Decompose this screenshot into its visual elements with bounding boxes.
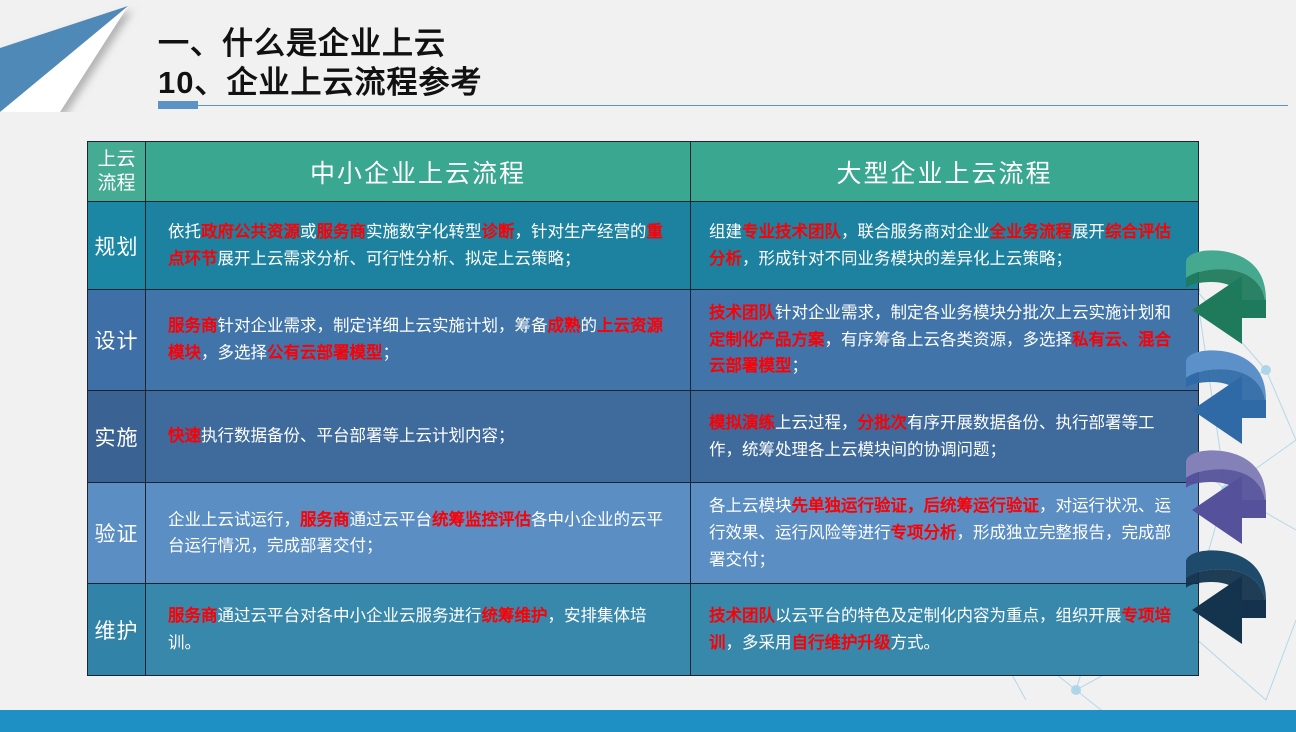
plain-text: ； (383, 344, 400, 362)
table-row: 实施快速执行数据备份、平台部署等上云计划内容；模拟演练上云过程，分批次有序开展数… (88, 391, 1199, 483)
header-cell-large: 大型企业上云流程 (691, 142, 1199, 202)
sme-flow-cell-2: 快速执行数据备份、平台部署等上云计划内容； (146, 391, 691, 483)
plain-text: 组建 (709, 223, 742, 241)
plain-text: ，针对生产经营的 (515, 223, 647, 241)
highlight-text: 公有云部署模型 (267, 344, 383, 362)
stage-label-0: 规划 (88, 202, 146, 290)
sme-flow-cell-0: 依托政府公共资源或服务商实施数字化转型诊断，针对生产经营的重点环节展开上云需求分… (146, 202, 691, 290)
highlight-text: 定制化产品方案 (709, 331, 825, 349)
slide-canvas: 一、什么是企业上云 10、企业上云流程参考 上云 流程 中小企业上云流程 大型企… (0, 0, 1296, 732)
plain-text: 依托 (168, 223, 201, 241)
stage-label-2: 实施 (88, 391, 146, 483)
large-flow-cell-1: 技术团队针对企业需求，制定各业务模块分批次上云实施计划和定制化产品方案，有序筹备… (691, 290, 1199, 391)
large-flow-cell-0: 组建专业技术团队，联合服务商对企业全业务流程展开综合评估分析，形成针对不同业务模… (691, 202, 1199, 290)
table-row: 验证企业上云试运行，服务商通过云平台统筹监控评估各中小企业的云平台运行情况，完成… (88, 483, 1199, 584)
plain-text: 企业上云试运行， (168, 511, 300, 529)
highlight-text: 专业技术团队 (742, 223, 841, 241)
plain-text: ； (792, 357, 809, 375)
highlight-text: 模拟演练 (709, 414, 775, 432)
plain-text: ，多采用 (726, 634, 792, 652)
highlight-text: 政府公共资源 (201, 223, 300, 241)
plain-text: 上云过程， (775, 414, 858, 432)
plain-text: 通过云平台对各中小企业云服务进行 (218, 607, 482, 625)
title-line-2: 10、企业上云流程参考 (158, 63, 858, 102)
large-flow-cell-4: 技术团队以云平台的特色及定制化内容为重点，组织开展专项培训，多采用自行维护升级方… (691, 584, 1199, 676)
sme-flow-cell-3: 企业上云试运行，服务商通过云平台统筹监控评估各中小企业的云平台运行情况，完成部署… (146, 483, 691, 584)
plain-text: 实施数字化转型 (366, 223, 482, 241)
stage-label-1: 设计 (88, 290, 146, 391)
header-stage-line2: 流程 (88, 172, 145, 196)
table-row: 设计服务商针对企业需求，制定详细上云实施计划，筹备成熟的上云资源模块，多选择公有… (88, 290, 1199, 391)
highlight-text: 专项分析 (891, 524, 957, 542)
plain-text: 针对企业需求，制定详细上云实施计划，筹备 (218, 317, 548, 335)
large-flow-cell-3: 各上云模块先单独运行验证，后统筹运行验证，对运行状况、运行效果、运行风险等进行专… (691, 483, 1199, 584)
title-divider-accent (158, 101, 198, 109)
title-line-1: 一、什么是企业上云 (158, 24, 858, 63)
sme-flow-cell-4: 服务商通过云平台对各中小企业云服务进行统筹维护，安排集体培训。 (146, 584, 691, 676)
plain-text: 各上云模块 (709, 497, 792, 515)
stage-label-4: 维护 (88, 584, 146, 676)
plain-text: 方式。 (891, 634, 941, 652)
highlight-text: 服务商 (317, 223, 367, 241)
table-row: 规划依托政府公共资源或服务商实施数字化转型诊断，针对生产经营的重点环节展开上云需… (88, 202, 1199, 290)
table-header-row: 上云 流程 中小企业上云流程 大型企业上云流程 (88, 142, 1199, 202)
cloud-migration-flow-table: 上云 流程 中小企业上云流程 大型企业上云流程 规划依托政府公共资源或服务商实施… (87, 141, 1199, 676)
highlight-text: 成熟 (548, 317, 581, 335)
highlight-text: 自行维护升级 (792, 634, 891, 652)
logo-wedge-icon (0, 0, 150, 112)
plain-text: ，有序筹备上云各类资源，多选择 (825, 331, 1073, 349)
highlight-text: 服务商 (168, 317, 218, 335)
plain-text: 执行数据备份、平台部署等上云计划内容； (201, 427, 515, 445)
highlight-text: 技术团队 (709, 607, 775, 625)
highlight-text: 统筹监控评估 (432, 511, 531, 529)
footer-bar (0, 710, 1296, 732)
title-divider (158, 105, 1288, 106)
header-stage-line1: 上云 (88, 148, 145, 172)
header-cell-sme: 中小企业上云流程 (146, 142, 691, 202)
plain-text: ，联合服务商对企业 (841, 223, 990, 241)
table-row: 维护服务商通过云平台对各中小企业云服务进行统筹维护，安排集体培训。技术团队以云平… (88, 584, 1199, 676)
sme-flow-cell-1: 服务商针对企业需求，制定详细上云实施计划，筹备成熟的上云资源模块，多选择公有云部… (146, 290, 691, 391)
header-cell-stage: 上云 流程 (88, 142, 146, 202)
highlight-text: 服务商 (168, 607, 218, 625)
plain-text: 的 (581, 317, 598, 335)
plain-text: 或 (300, 223, 317, 241)
plain-text: 以云平台的特色及定制化内容为重点，组织开展 (775, 607, 1122, 625)
highlight-text: 全业务流程 (990, 223, 1073, 241)
large-flow-cell-2: 模拟演练上云过程，分批次有序开展数据备份、执行部署等工作，统筹处理各上云模块间的… (691, 391, 1199, 483)
highlight-text: 技术团队 (709, 304, 775, 322)
page-title: 一、什么是企业上云 10、企业上云流程参考 (158, 24, 858, 103)
plain-text: 通过云平台 (350, 511, 433, 529)
plain-text: 展开 (1072, 223, 1105, 241)
plain-text: 针对企业需求，制定各业务模块分批次上云实施计划和 (775, 304, 1171, 322)
highlight-text: 服务商 (300, 511, 350, 529)
highlight-text: 分批次 (858, 414, 908, 432)
highlight-text: 快速 (168, 427, 201, 445)
plain-text: 展开上云需求分析、可行性分析、拟定上云策略； (218, 250, 581, 268)
plain-text: ，形成针对不同业务模块的差异化上云策略； (742, 250, 1072, 268)
stage-label-3: 验证 (88, 483, 146, 584)
plain-text: ，多选择 (201, 344, 267, 362)
highlight-text: 先单独运行验证，后统筹运行验证 (792, 497, 1040, 515)
highlight-text: 诊断 (482, 223, 515, 241)
highlight-text: 统筹维护 (482, 607, 548, 625)
